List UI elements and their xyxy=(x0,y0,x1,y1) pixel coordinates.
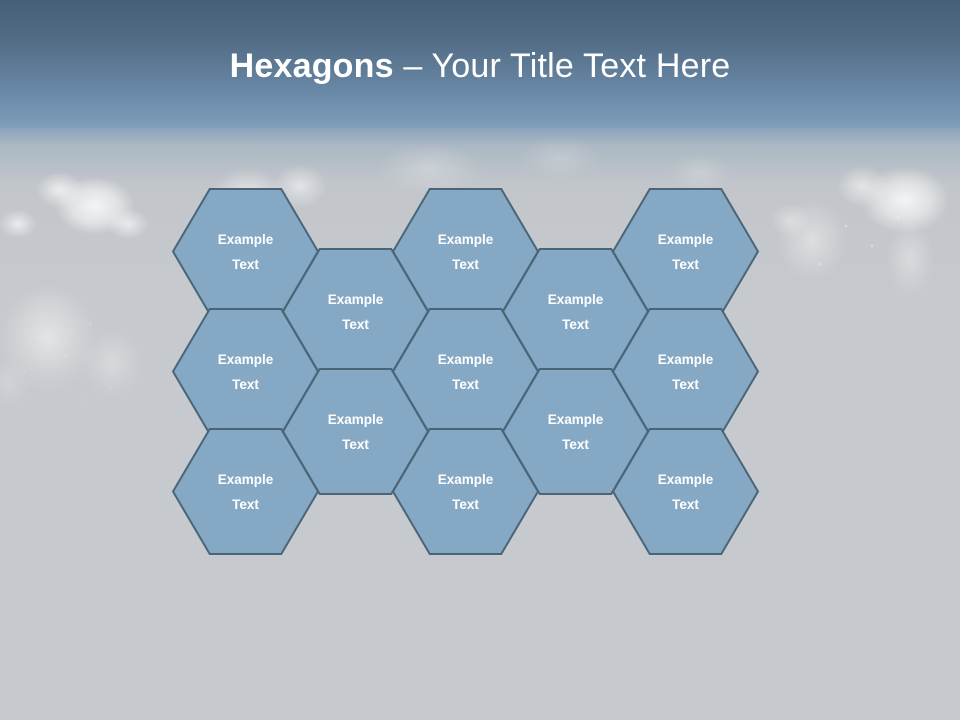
page-title-bold: Hexagons xyxy=(230,47,394,85)
hexagon-shape xyxy=(612,308,759,435)
page-title: Hexagons – Your Title Text Here xyxy=(0,44,960,88)
hexagon-cell[interactable]: ExampleText xyxy=(612,428,759,555)
hexagon-diagram: ExampleTextExampleTextExampleTextExample… xyxy=(172,188,752,554)
hexagon-cell[interactable]: ExampleText xyxy=(612,188,759,315)
hexagon-cell[interactable]: ExampleText xyxy=(612,308,759,435)
hexagon-shape xyxy=(612,428,759,555)
page-title-rest: – Your Title Text Here xyxy=(394,47,731,85)
slide-canvas: Hexagons – Your Title Text Here ExampleT… xyxy=(0,0,960,720)
hexagon-shape xyxy=(612,188,759,315)
